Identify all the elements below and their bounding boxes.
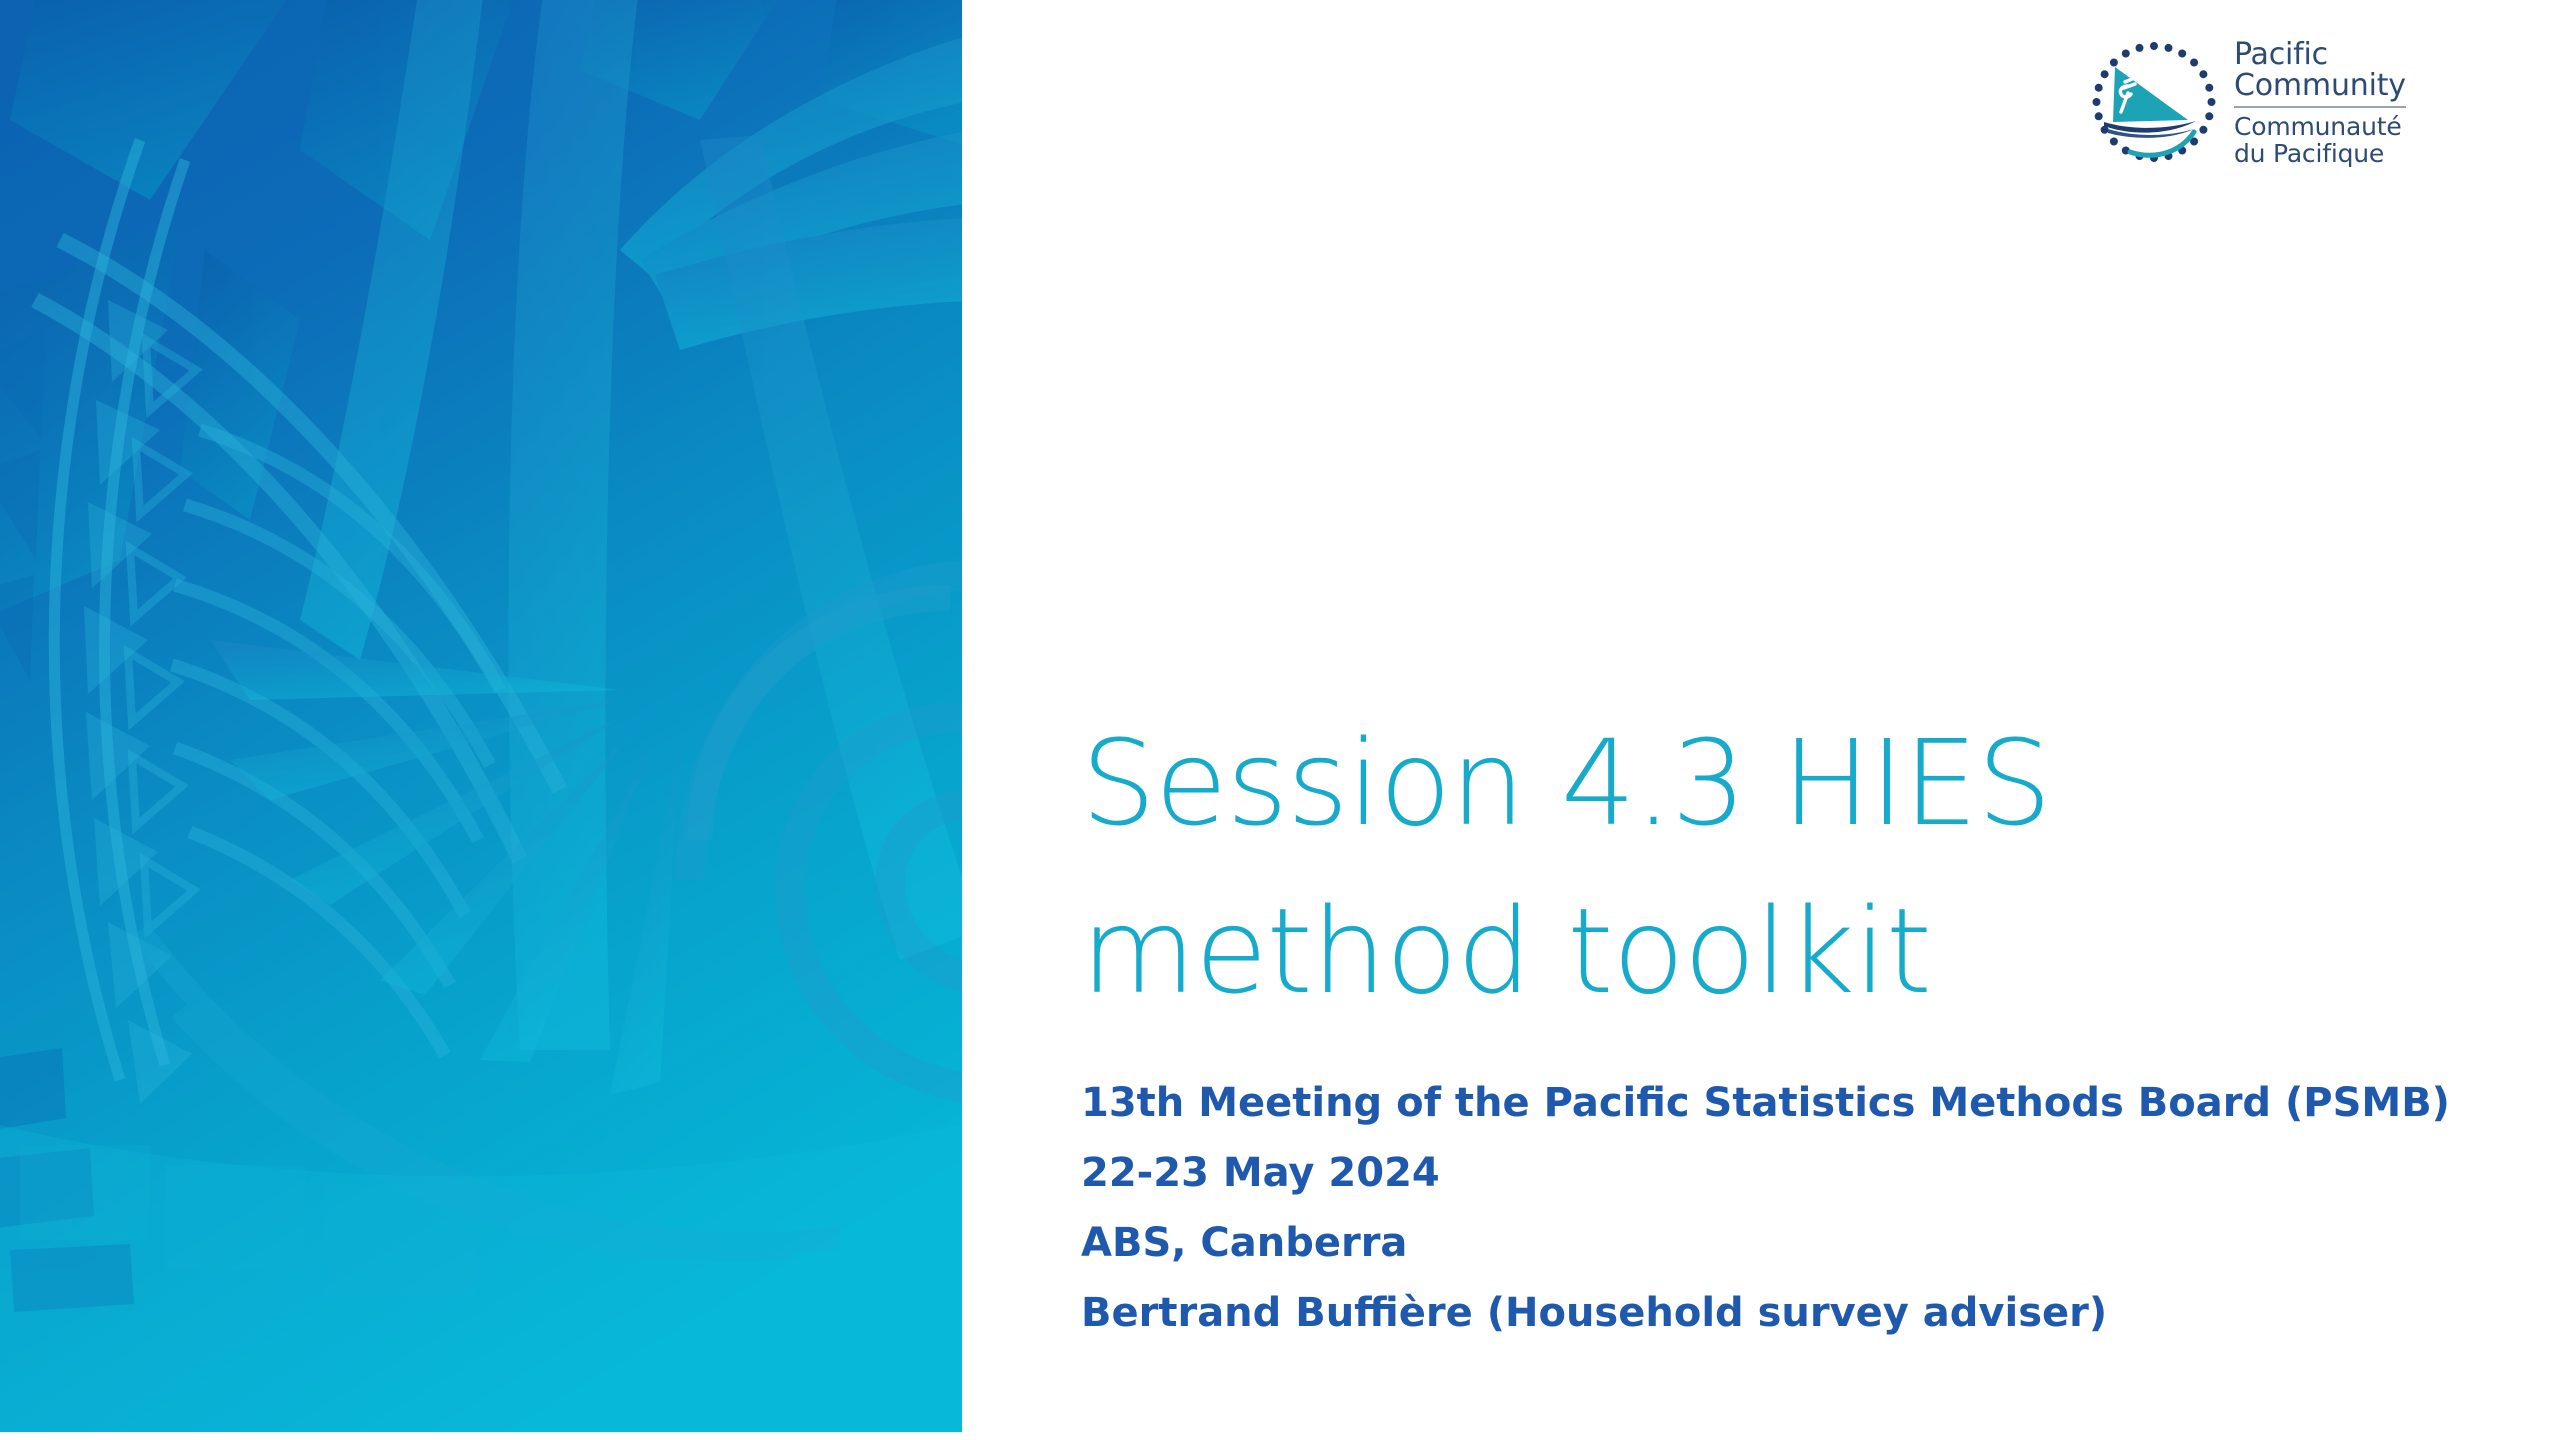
title-slide: Pacific Community Communauté du Pacifiq… — [0, 0, 2560, 1440]
slide-title-line-2: method toolkit — [1081, 868, 2401, 1036]
logo-text-pacific: Pacific — [2234, 39, 2406, 70]
slide-title: Session 4.3 HIES method toolkit — [1081, 700, 2401, 1035]
slide-subtitle: 13th Meeting of the Pacific Statistics M… — [1081, 1068, 2461, 1348]
subtitle-meeting: 13th Meeting of the Pacific Statistics M… — [1081, 1068, 2461, 1138]
logo-text-community: Community — [2234, 70, 2406, 101]
pacific-pattern-panel — [0, 0, 962, 1432]
logo-text-communaute: Communauté — [2234, 113, 2406, 140]
subtitle-dates: 22-23 May 2024 — [1081, 1138, 2461, 1208]
pacific-community-emblem-icon — [2088, 36, 2220, 168]
subtitle-location: ABS, Canberra — [1081, 1208, 2461, 1278]
slide-title-line-1: Session 4.3 HIES — [1081, 700, 2401, 868]
logo-text-du-pacifique: du Pacifique — [2234, 140, 2406, 167]
logo-divider — [2234, 106, 2406, 108]
pacific-community-logo: Pacific Community Communauté du Pacifiq… — [2088, 28, 2448, 176]
logo-wordmark: Pacific Community Communauté du Pacifiq… — [2234, 37, 2406, 167]
subtitle-presenter: Bertrand Buffière (Household survey adv… — [1081, 1278, 2461, 1348]
